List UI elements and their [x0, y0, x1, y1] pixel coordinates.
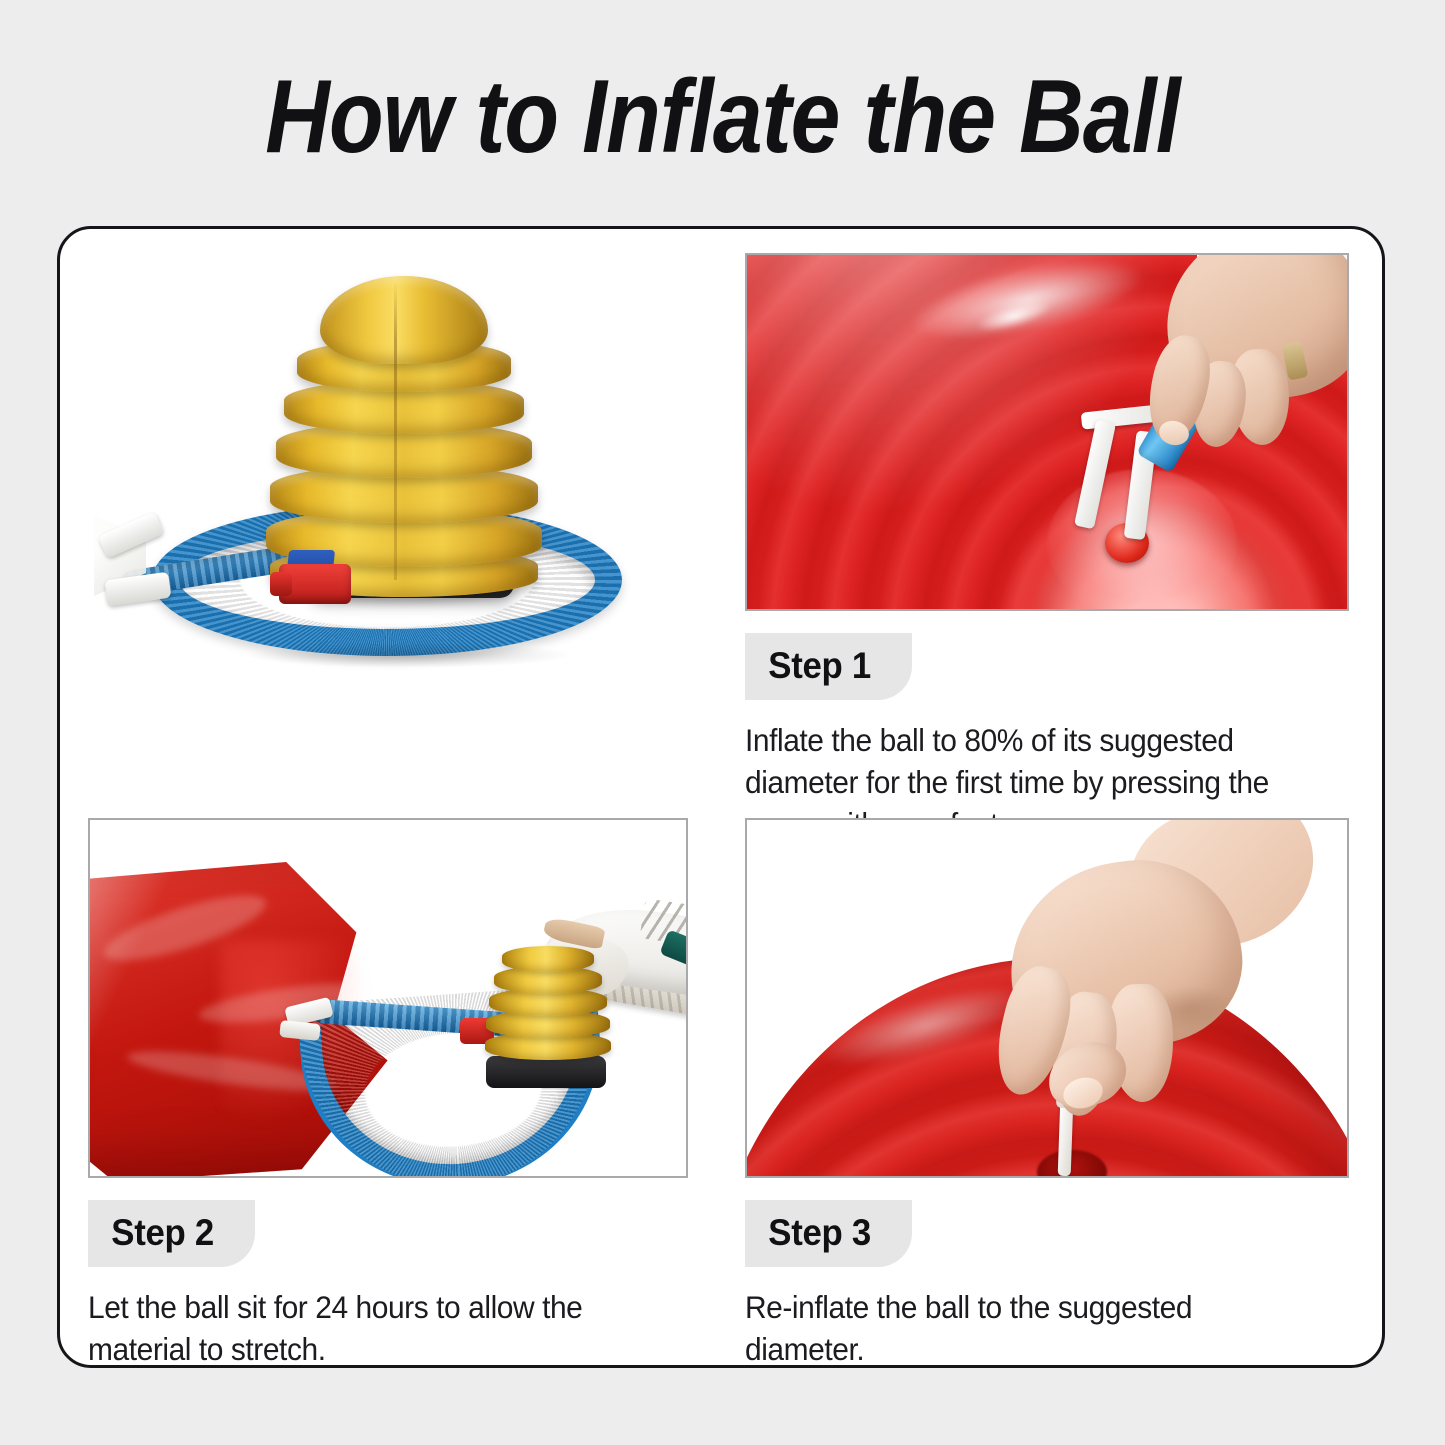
- step-2-badge-label: Step 2: [111, 1214, 214, 1251]
- infographic-page: How to Inflate the Ball: [0, 0, 1445, 1445]
- panel-pump-overview: [88, 258, 692, 778]
- page-title: How to Inflate the Ball: [101, 60, 1344, 174]
- panel-step-3: Step 3 Re-inflate the ball to the sugges…: [745, 818, 1349, 1338]
- step-3-description-wrapper: Re-inflate the ball to the suggested dia…: [745, 1287, 1345, 1371]
- pump-overview-image: [94, 258, 674, 688]
- step-3-image: [745, 818, 1349, 1178]
- yellow-foot-pump: [482, 946, 614, 1076]
- step-2-badge: Step 2: [88, 1200, 255, 1267]
- pump-yellow-bellows: [254, 276, 554, 566]
- step-3-badge-label: Step 3: [768, 1214, 871, 1251]
- step-2-image: [88, 818, 688, 1178]
- hand-holding-tool: [1135, 255, 1347, 465]
- step-1-badge: Step 1: [745, 633, 912, 700]
- hand-inserting-plug: [943, 820, 1303, 1156]
- step-3-description: Re-inflate the ball to the suggested dia…: [745, 1287, 1315, 1371]
- deflated-ball-illustration: [90, 820, 686, 1176]
- step-2-description: Let the ball sit for 24 hours to allow t…: [88, 1287, 658, 1371]
- step-1-badge-label: Step 1: [768, 647, 871, 684]
- bellows-seam-line: [394, 280, 397, 580]
- tool-prong-left: [1074, 419, 1116, 529]
- panel-step-2: Step 2 Let the ball sit for 24 hours to …: [88, 818, 692, 1338]
- step-2-description-wrapper: Let the ball sit for 24 hours to allow t…: [88, 1287, 688, 1371]
- bellows-top-cap: [320, 276, 488, 364]
- step-1-image: [745, 253, 1349, 611]
- valve-red-part: [279, 564, 351, 604]
- pump-drop-shadow: [244, 642, 574, 668]
- bellows-ring: [502, 946, 594, 972]
- hose-valve-fitting: [279, 550, 357, 606]
- ball-valve-illustration: [747, 255, 1347, 609]
- step-3-badge: Step 3: [745, 1200, 912, 1267]
- panel-step-1: Step 1 Inflate the ball to 80% of its su…: [745, 253, 1349, 773]
- pump-illustration: [94, 258, 674, 688]
- plug-insert-illustration: [747, 820, 1347, 1176]
